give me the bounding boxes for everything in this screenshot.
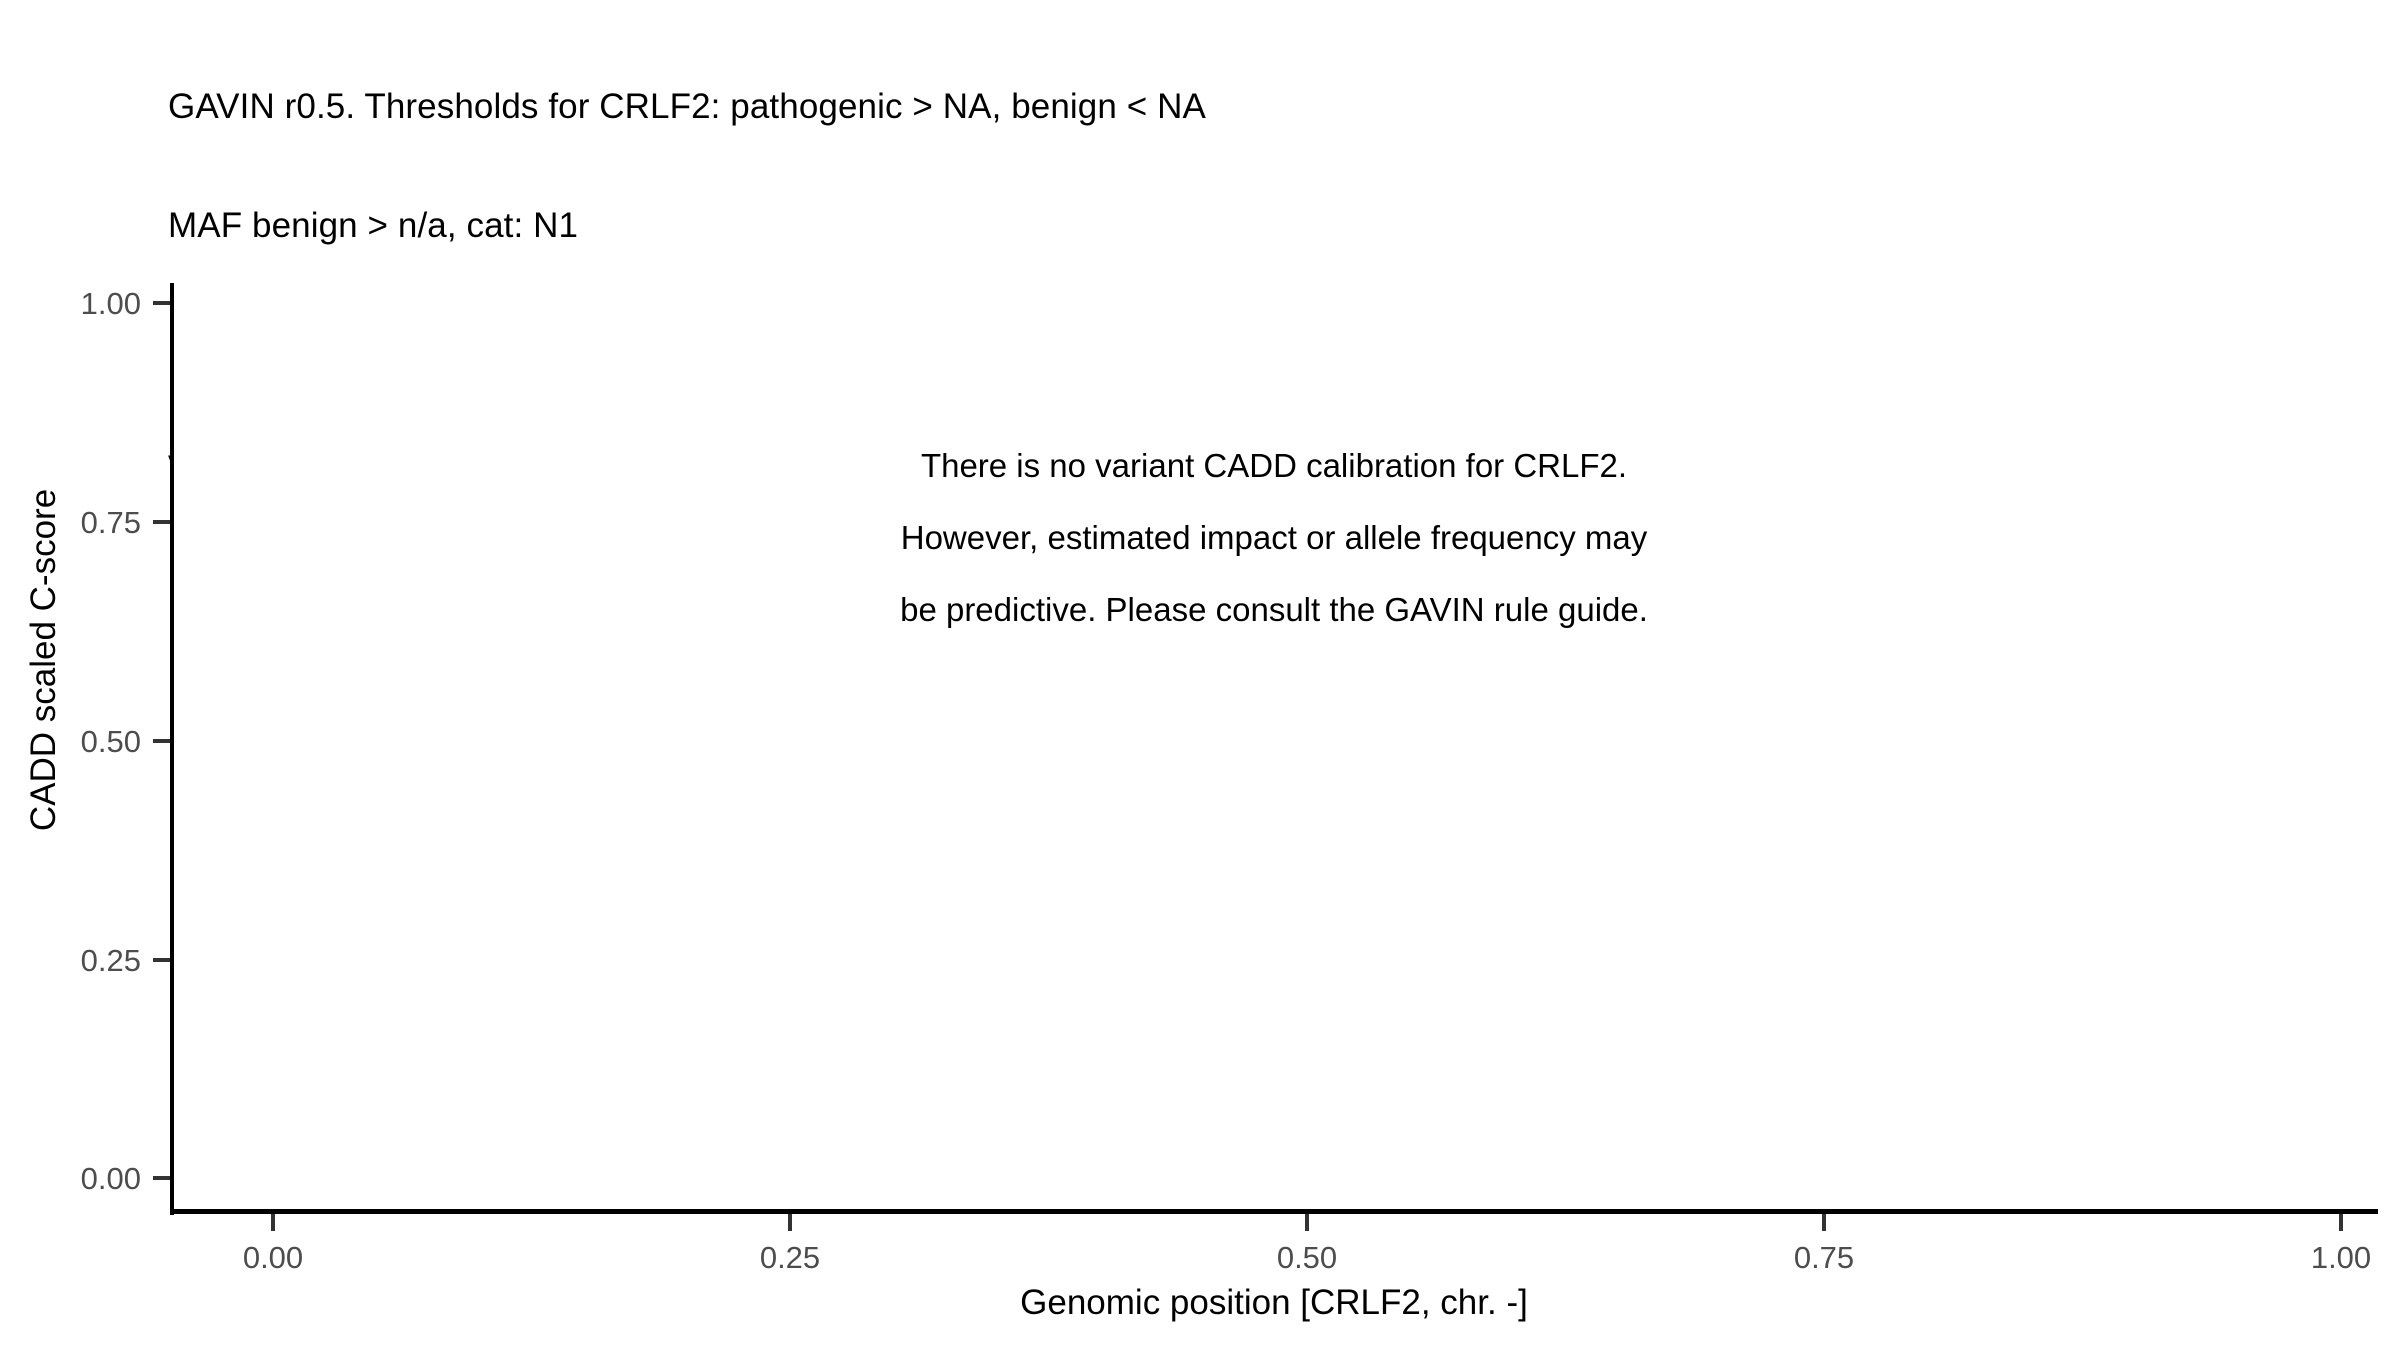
- y-axis-line: [170, 283, 174, 1215]
- plot-panel: [172, 283, 2376, 1213]
- x-tick-label-1: 0.25: [680, 1240, 900, 1276]
- x-tick-mark-3: [1822, 1214, 1826, 1231]
- y-tick-label-0: 0.00: [0, 1163, 153, 1194]
- x-tick-label-0: 0.00: [163, 1240, 383, 1276]
- plot-title-line-1: GAVIN r0.5. Thresholds for CRLF2: pathog…: [168, 87, 2168, 127]
- plot-annotation-line-1: There is no variant CADD calibration for…: [172, 430, 2376, 502]
- y-tick-mark-3: [153, 520, 170, 524]
- y-tick-label-3: 0.75: [0, 507, 153, 538]
- y-tick-label-4: 1.00: [0, 288, 153, 319]
- y-tick-mark-1: [153, 958, 170, 962]
- x-axis-line: [170, 1209, 2378, 1214]
- x-tick-mark-2: [1305, 1214, 1309, 1231]
- x-axis-title: Genomic position [CRLF2, chr. -]: [172, 1282, 2376, 1324]
- x-tick-label-3: 0.75: [1714, 1240, 1934, 1276]
- x-tick-mark-0: [271, 1214, 275, 1231]
- y-axis-title: CADD scaled C-score: [18, 180, 70, 1140]
- x-tick-label-4: 1.00: [2231, 1240, 2400, 1276]
- y-tick-mark-0: [153, 1176, 170, 1180]
- y-tick-label-2: 0.50: [0, 726, 153, 757]
- plot-annotation: There is no variant CADD calibration for…: [172, 430, 2376, 646]
- x-tick-label-2: 0.50: [1197, 1240, 1417, 1276]
- x-tick-mark-4: [2339, 1214, 2343, 1231]
- plot-title-line-2: MAF benign > n/a, cat: N1: [168, 206, 2168, 246]
- y-tick-mark-4: [153, 301, 170, 305]
- y-tick-label-1: 0.25: [0, 945, 153, 976]
- x-tick-mark-1: [788, 1214, 792, 1231]
- y-tick-mark-2: [153, 739, 170, 743]
- plot-canvas: GAVIN r0.5. Thresholds for CRLF2: pathog…: [0, 0, 2400, 1350]
- plot-annotation-line-3: be predictive. Please consult the GAVIN …: [172, 574, 2376, 646]
- plot-annotation-line-2: However, estimated impact or allele freq…: [172, 502, 2376, 574]
